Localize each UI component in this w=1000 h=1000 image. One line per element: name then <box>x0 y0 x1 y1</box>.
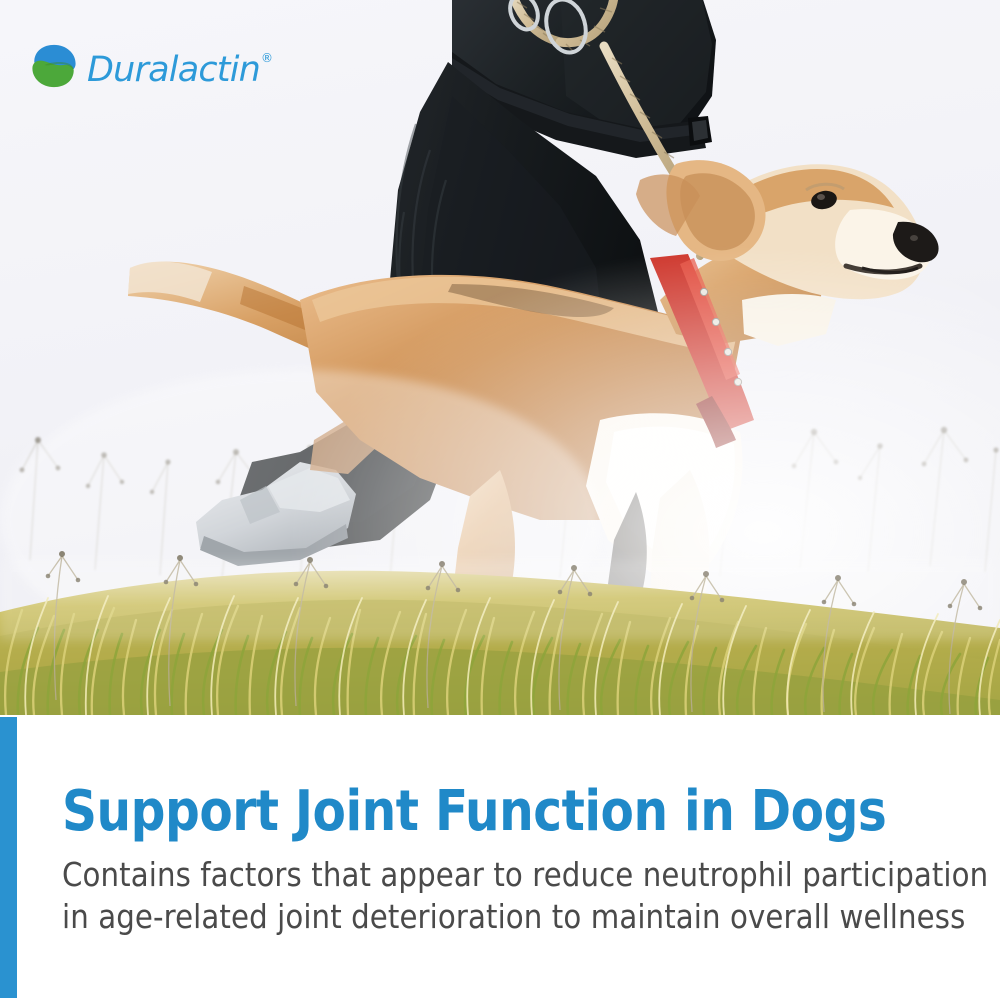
page-title: Support Joint Function in Dogs <box>62 715 931 840</box>
brand-logo[interactable]: Duralactin ® <box>30 42 272 90</box>
page-subtitle: Contains factors that appear to reduce n… <box>62 840 949 937</box>
hero-photo: Duralactin ® <box>0 0 1000 715</box>
brand-name-text: Duralactin <box>87 53 260 88</box>
leaf-circle-logo-icon <box>30 42 78 90</box>
brand-wordmark: Duralactin ® <box>87 49 272 84</box>
registered-trademark-icon: ® <box>261 52 273 64</box>
caption-block: Support Joint Function in Dogs Contains … <box>0 715 1000 1000</box>
product-banner-page: Duralactin ® Support Joint Function in D… <box>0 0 1000 1000</box>
accent-bar <box>0 717 17 998</box>
caption-text-group: Support Joint Function in Dogs Contains … <box>62 715 962 937</box>
subtitle-line-1: Contains factors that appear to reduce n… <box>62 854 949 896</box>
subtitle-line-2: in age-related joint deterioration to ma… <box>62 896 949 938</box>
hero-photo-illustration <box>0 0 1000 715</box>
